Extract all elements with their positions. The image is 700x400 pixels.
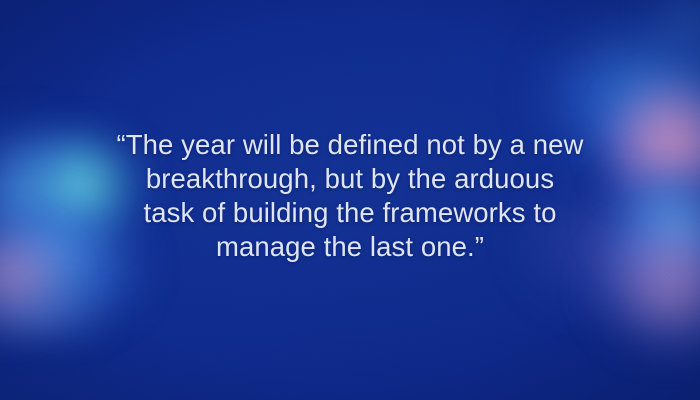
- quote-line-1: “The year will be defined not by a new: [46, 128, 654, 162]
- quote-card: “The year will be defined not by a new b…: [0, 0, 700, 400]
- quote-line-4: manage the last one.”: [46, 230, 654, 264]
- quote-line-3: task of building the frameworks to: [46, 196, 654, 230]
- quote-line-2: breakthrough, but by the arduous: [46, 162, 654, 196]
- quote-text-block: “The year will be defined not by a new b…: [0, 128, 700, 264]
